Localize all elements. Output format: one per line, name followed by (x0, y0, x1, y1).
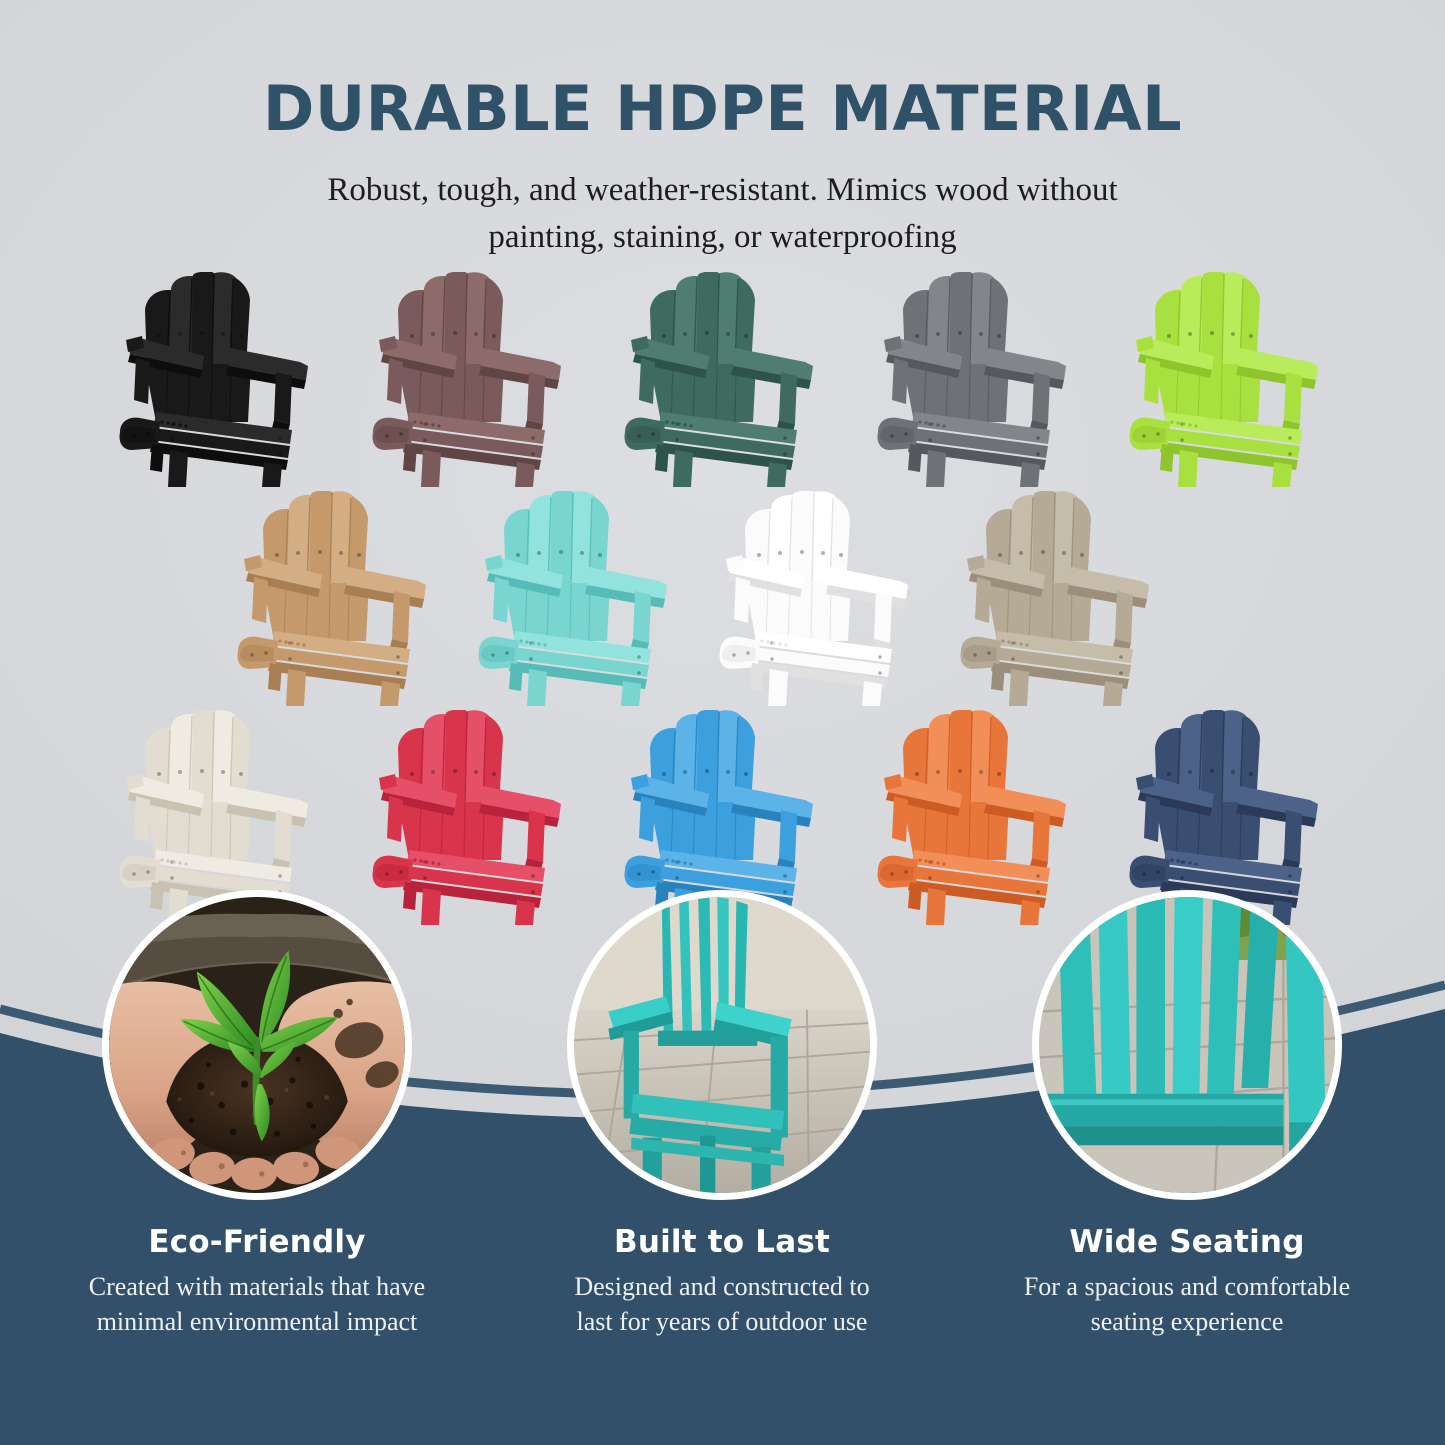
feature-image-built-to-last (567, 890, 877, 1200)
feature-eco-friendly: Eco-Friendly Created with materials that… (42, 890, 472, 1339)
chair-row-2 (112, 491, 1337, 706)
chair-color-grid (112, 272, 1337, 925)
feature-desc-line-1: Designed and constructed to (507, 1270, 937, 1305)
features-section: Eco-Friendly Created with materials that… (0, 890, 1445, 1390)
chair-swatch-white[interactable] (712, 491, 927, 706)
chair-swatch-weathered-beige[interactable] (953, 491, 1168, 706)
feature-title: Eco-Friendly (42, 1224, 472, 1260)
header: DURABLE HDPE MATERIAL Robust, tough, and… (0, 76, 1445, 261)
chair-swatch-turquoise-light[interactable] (471, 491, 686, 706)
feature-desc-line-1: For a spacious and comfortable (972, 1270, 1402, 1305)
page-title: DURABLE HDPE MATERIAL (0, 76, 1445, 141)
chair-swatch-brown[interactable] (365, 272, 580, 487)
chair-swatch-black[interactable] (112, 272, 327, 487)
chair-swatch-teak-tan[interactable] (230, 491, 445, 706)
chair-row-1 (112, 272, 1337, 487)
feature-image-eco-friendly (102, 890, 412, 1200)
feature-desc-line-2: last for years of outdoor use (507, 1305, 937, 1340)
feature-title: Wide Seating (972, 1224, 1402, 1260)
feature-desc-line-1: Created with materials that have (42, 1270, 472, 1305)
feature-image-wide-seating (1032, 890, 1342, 1200)
feature-description: Designed and constructed to last for yea… (507, 1270, 937, 1339)
feature-built-to-last: Built to Last Designed and constructed t… (507, 890, 937, 1339)
feature-desc-line-2: minimal environmental impact (42, 1305, 472, 1340)
feature-description: For a spacious and comfortable seating e… (972, 1270, 1402, 1339)
feature-desc-line-2: seating experience (972, 1305, 1402, 1340)
feature-description: Created with materials that have minimal… (42, 1270, 472, 1339)
chair-swatch-dark-green[interactable] (617, 272, 832, 487)
chair-swatch-lime-green[interactable] (1122, 272, 1337, 487)
feature-title: Built to Last (507, 1224, 937, 1260)
chair-swatch-gray[interactable] (870, 272, 1085, 487)
page-subtitle: Robust, tough, and weather-resistant. Mi… (0, 167, 1445, 261)
subtitle-line-1: Robust, tough, and weather-resistant. Mi… (0, 167, 1445, 214)
subtitle-line-2: painting, staining, or waterproofing (0, 214, 1445, 261)
poster-root: DURABLE HDPE MATERIAL Robust, tough, and… (0, 0, 1445, 1445)
feature-wide-seating: Wide Seating For a spacious and comforta… (972, 890, 1402, 1339)
